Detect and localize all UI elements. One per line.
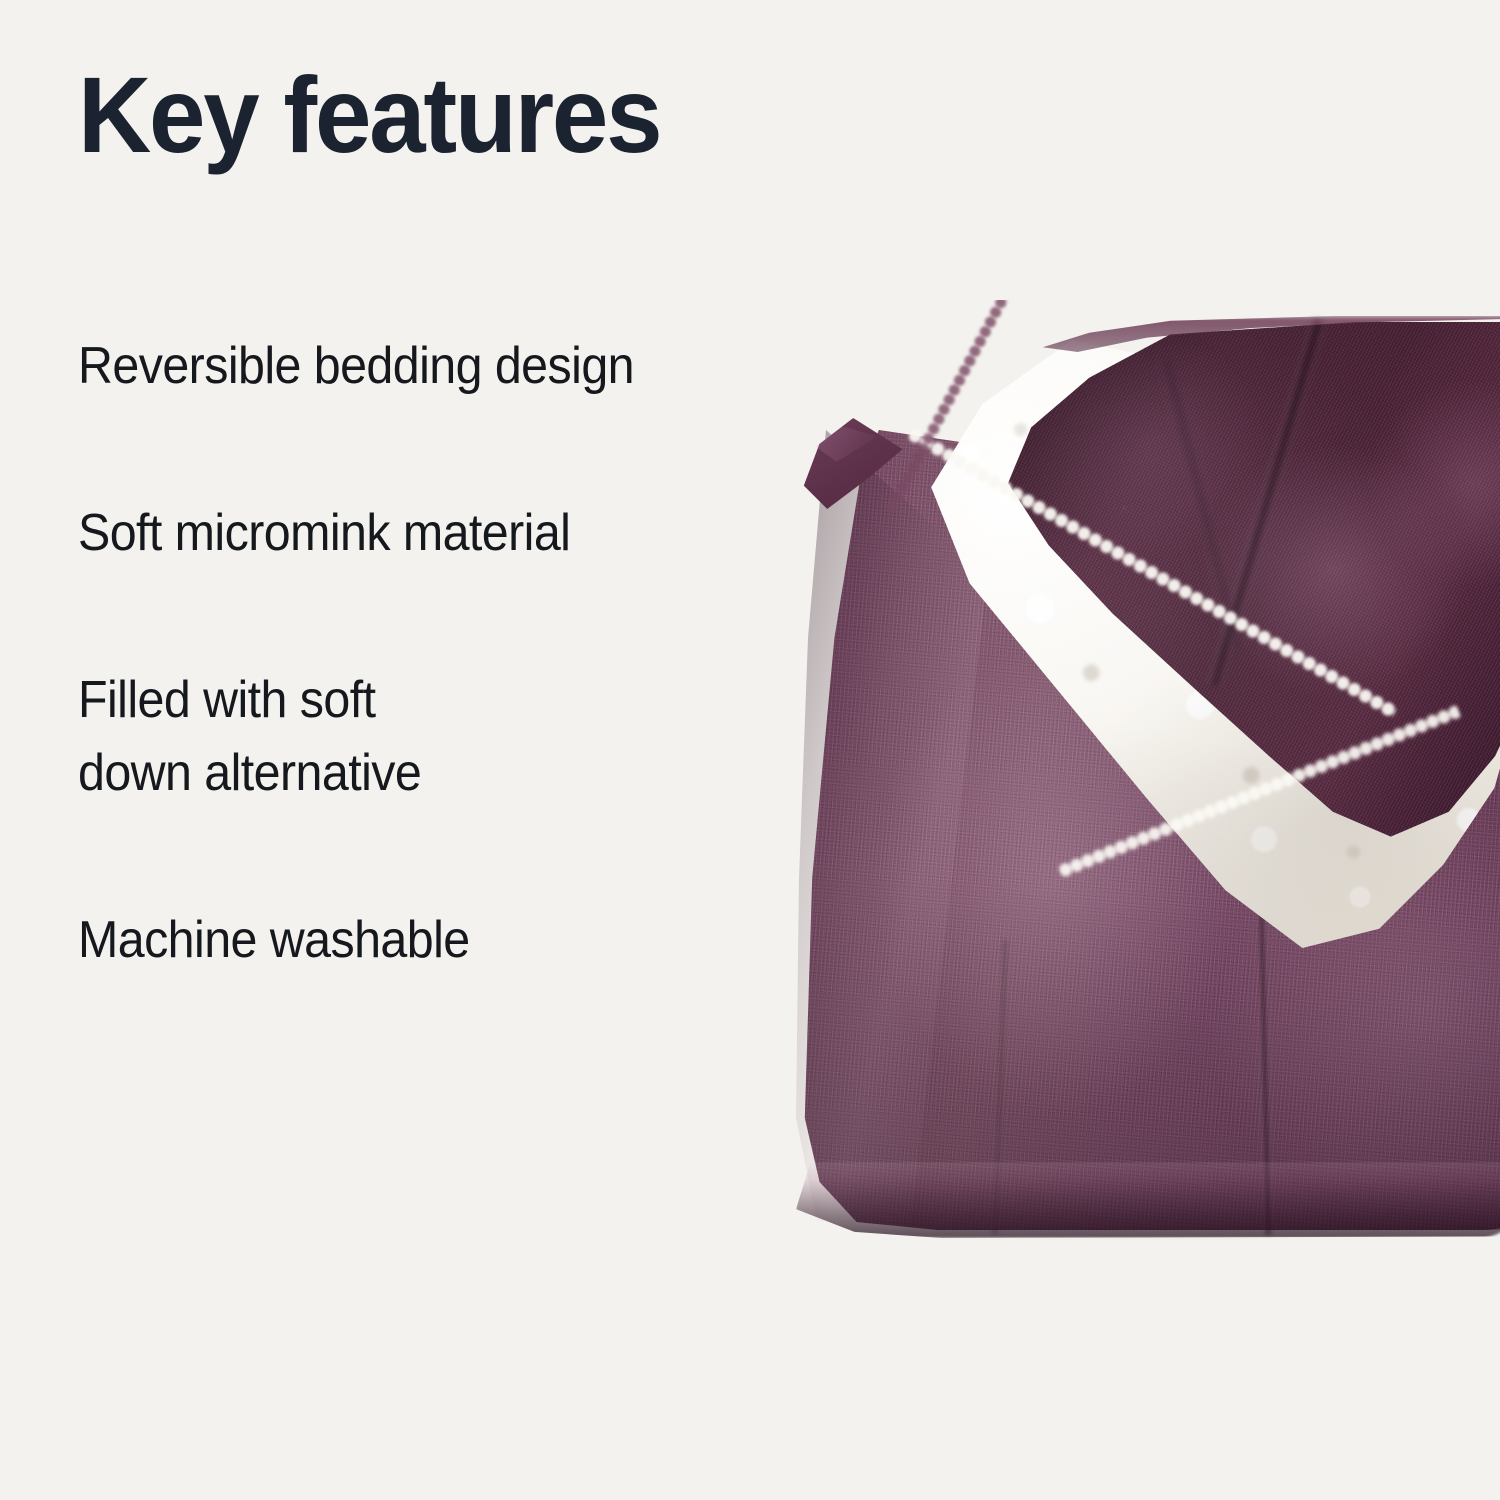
blanket-bottom-edge [796,1162,1500,1238]
feature-item-reversible-bedding-design: Reversible bedding design [78,330,766,404]
product-photo-blanket [760,300,1500,1240]
features-text-column: Key features Reversible bedding design S… [78,0,818,1500]
feature-item-machine-washable: Machine washable [78,904,766,978]
page-title: Key features [78,58,660,171]
key-features-panel: Key features Reversible bedding design S… [0,0,1500,1500]
feature-list: Reversible bedding design Soft micromink… [78,330,818,978]
feature-item-filled-with-soft-down-alternative: Filled with soft down alternative [78,664,766,812]
feature-item-soft-micromink-material: Soft micromink material [78,497,766,571]
